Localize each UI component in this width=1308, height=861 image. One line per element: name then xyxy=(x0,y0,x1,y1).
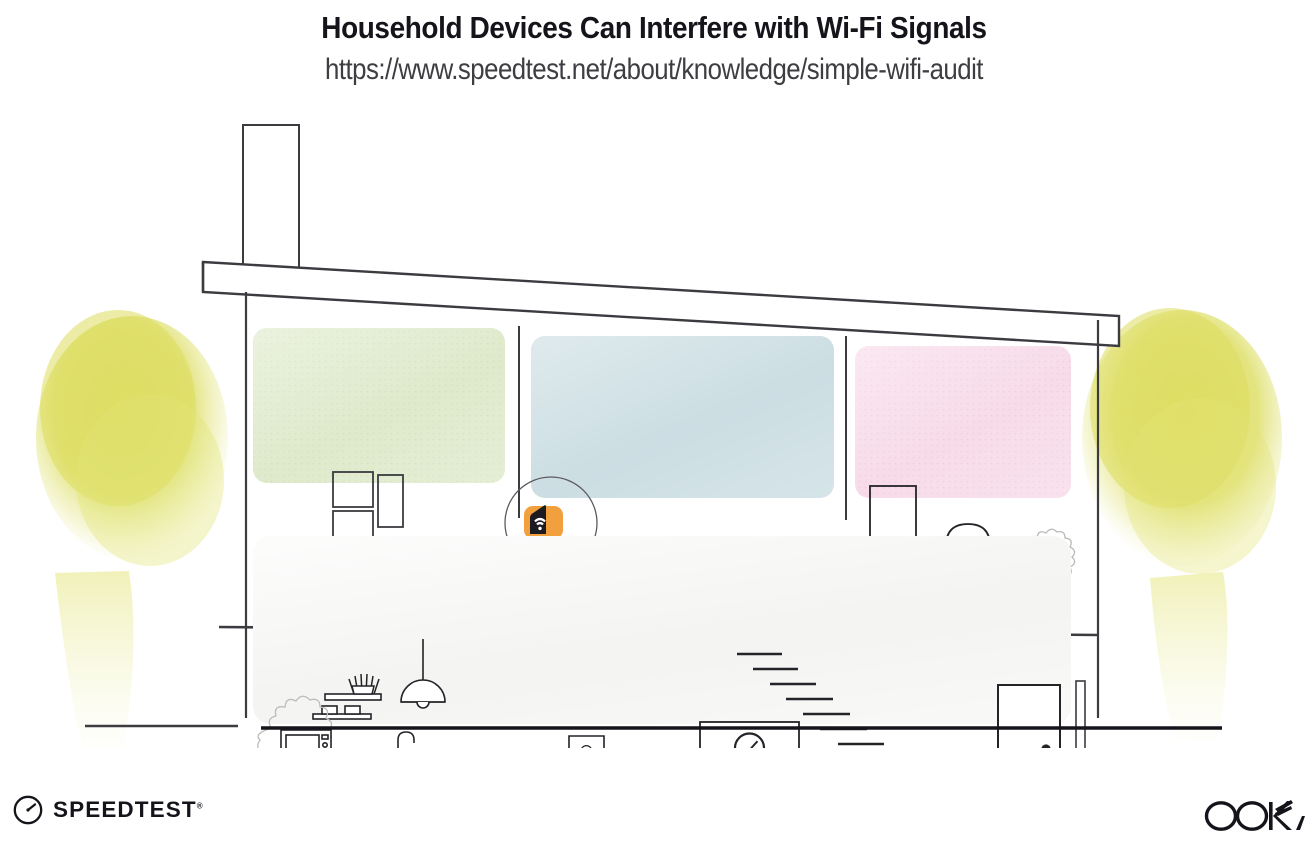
page-title: Household Devices Can Interfere with Wi-… xyxy=(65,0,1242,46)
screenshot-root: Household Devices Can Interfere with Wi-… xyxy=(0,0,1308,861)
room-bedroom-blue xyxy=(531,336,834,498)
wall-shelf-upper xyxy=(325,694,381,700)
speedometer-icon xyxy=(12,794,44,826)
ground-line xyxy=(85,726,1222,728)
laptop: SPEEDTEST xyxy=(560,736,610,748)
television: SPEEDTEST xyxy=(700,722,799,748)
wifi-router[interactable] xyxy=(524,505,563,539)
microwave xyxy=(281,730,331,748)
speedtest-wordmark: SPEEDTEST® xyxy=(53,797,203,823)
front-door[interactable] xyxy=(998,685,1060,748)
footer: SPEEDTEST® xyxy=(0,780,1308,861)
chimney xyxy=(243,125,299,277)
wall-art-frames xyxy=(333,472,403,546)
room-nursery-pink xyxy=(855,346,1071,498)
trademark-symbol: ® xyxy=(197,802,203,811)
right-tree xyxy=(1082,308,1282,742)
left-tree xyxy=(36,310,228,748)
kitchen-sink xyxy=(398,732,414,748)
header: Household Devices Can Interfere with Wi-… xyxy=(0,0,1308,87)
side-window-panel xyxy=(1076,681,1085,748)
ookla-logo xyxy=(1203,796,1308,841)
house-illustration: SPEEDTEST xyxy=(0,108,1308,748)
room-bedroom-green xyxy=(253,328,505,483)
page-url: https://www.speedtest.net/about/knowledg… xyxy=(92,46,1217,87)
speedtest-logo: SPEEDTEST® xyxy=(12,794,203,826)
